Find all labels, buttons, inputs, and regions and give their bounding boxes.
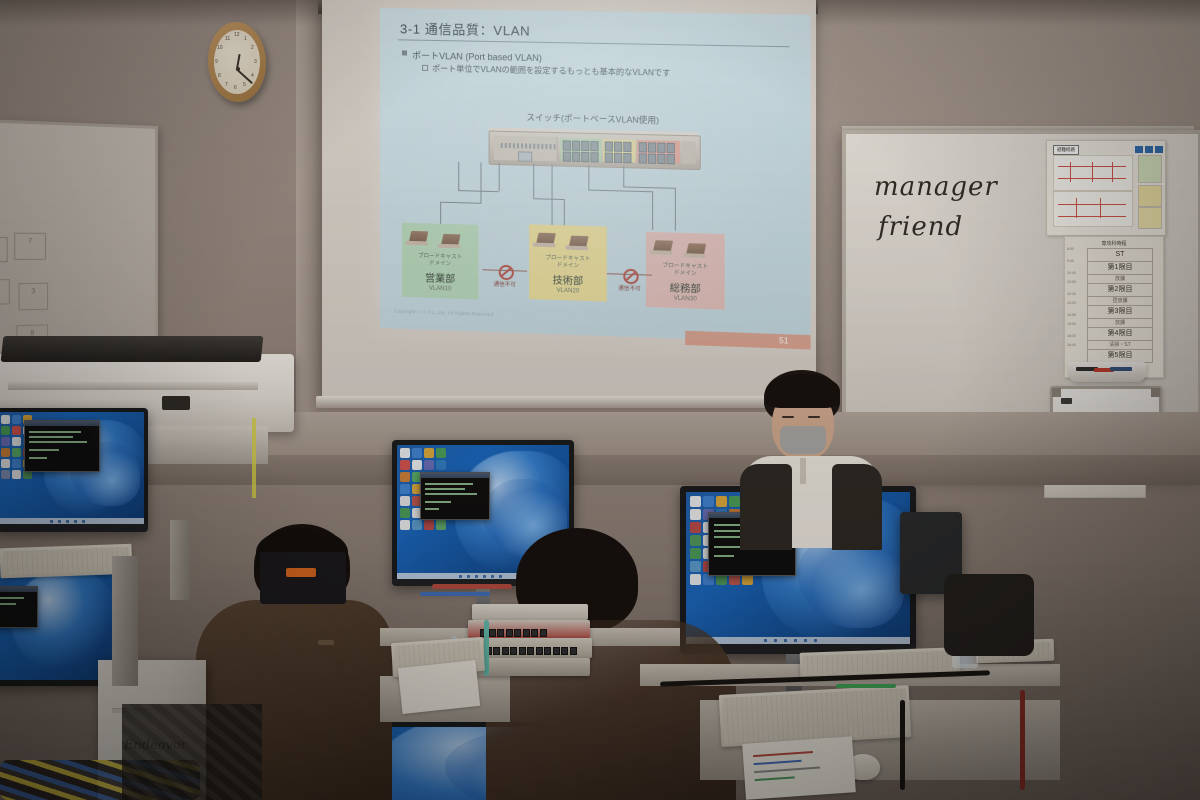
switch-port: [605, 152, 613, 162]
red-cable: [1020, 690, 1025, 790]
instructor-vest-right: [832, 464, 882, 550]
switch-port: [623, 153, 631, 163]
monitor-screen: [0, 412, 144, 524]
clock-numeral: 6: [234, 85, 237, 91]
slide-bullet-2: ポート単位でVLANの範囲を設定するもっとも基本的なVLANです: [432, 63, 670, 79]
terminal-titlebar[interactable]: [25, 421, 99, 426]
wb-left-note: 9: [0, 279, 10, 305]
barrier-label: 通信不可: [485, 279, 526, 288]
switch-console-port: [518, 151, 532, 161]
schedule-table: ST 第1限目 放課 第2限目 昼放課 第3限目 放課 第4限目 清掃・ST 第…: [1087, 248, 1153, 363]
schedule-title: 専攻科時程: [1065, 240, 1163, 247]
switch-port: [657, 154, 665, 164]
jacket-tab: [318, 640, 334, 645]
projected-slide: 3-1 通信品質：VLAN ポートVLAN (Port based VLAN) …: [380, 8, 811, 343]
switch-port: [563, 151, 571, 161]
green-cable: [836, 684, 896, 688]
windows-taskbar[interactable]: [686, 637, 910, 644]
switch-uplink-group: [681, 141, 696, 164]
poster-floor-map-upper: [1053, 155, 1133, 191]
barrier-1: 通信不可: [480, 263, 529, 265]
dept-broadcast-line2: ドメイン: [429, 260, 451, 267]
patch-cable-blue: [420, 592, 490, 596]
whiteboard-eraser: [1061, 398, 1072, 404]
dept-box-vlan10: ブロードキャスト ドメイン 営業部 VLAN10: [402, 223, 478, 300]
dept-box-vlan30: ブロードキャスト ドメイン 総務部 VLAN30: [646, 232, 725, 310]
terminal-window[interactable]: [420, 472, 490, 520]
switch-port-row: [476, 647, 577, 655]
dept-vlan-id: VLAN20: [529, 287, 607, 296]
handout-paper-center: [398, 660, 480, 714]
schedule-row: 第4限目: [1087, 327, 1153, 340]
link-line: [480, 163, 481, 203]
cable-tangle: [122, 704, 262, 800]
clock-numeral: 10: [217, 45, 223, 51]
marker-blue: [1110, 367, 1132, 371]
switch-left-panel: [494, 136, 558, 162]
wb-left-note: 3: [18, 283, 48, 311]
link-line: [440, 202, 481, 204]
terminal-window[interactable]: [0, 586, 38, 628]
instructor-collar: [800, 458, 806, 484]
classroom-photo: 3-1 通信品質：VLAN ポートVLAN (Port based VLAN) …: [0, 0, 1200, 800]
clock-numeral: 5: [243, 82, 246, 88]
link-line: [458, 162, 459, 190]
schedule-time: 16:40: [1067, 343, 1076, 347]
link-line: [458, 190, 498, 192]
printer-control-panel[interactable]: [162, 396, 190, 410]
handout-paper-right: [742, 736, 856, 800]
dept-broadcast-line1: ブロードキャスト: [662, 263, 708, 271]
link-line: [564, 199, 565, 227]
monitor-screen: [0, 560, 114, 680]
network-switch-top: [472, 604, 588, 620]
clock-center-pin: [236, 67, 240, 71]
poster-badge-2: [1145, 146, 1153, 153]
slide-copyright: Copyright ○○○ Co.,Ltd. All Rights Reserv…: [394, 308, 495, 317]
class-schedule-sheet: 専攻科時程 ST 第1限目 放課 第2限目 昼放課 第3限目 放課 第4限目 清…: [1064, 236, 1164, 378]
dept-box-vlan20: ブロードキャスト ドメイン 技術部 VLAN20: [529, 224, 607, 301]
switch-port-group-vlan10: [561, 138, 602, 161]
projection-screen-bottom-bar: [316, 396, 820, 408]
printer-paper-slot: [8, 382, 258, 390]
schedule-row: 放課: [1087, 318, 1153, 327]
switch-port: [590, 141, 598, 151]
instructor-fringe: [766, 374, 840, 408]
diagram-caption: スイッチ(ポートベースVLAN使用): [380, 108, 811, 130]
switch-port: [648, 142, 656, 152]
schedule-row: 放課: [1087, 274, 1153, 283]
schedule-row: ST: [1087, 248, 1153, 261]
link-line: [588, 165, 589, 189]
wb-left-note: 2: [0, 237, 8, 263]
crate-handle: [286, 568, 316, 577]
dept-broadcast-line2: ドメイン: [674, 270, 697, 277]
poster-title: 避難経路: [1053, 145, 1079, 155]
schedule-time: 10:50: [1067, 280, 1076, 284]
link-line: [623, 166, 624, 186]
schedule-time: 16:30: [1067, 334, 1076, 338]
instructor-eye-left: [782, 416, 794, 418]
clock-numeral: 1: [244, 36, 247, 42]
switch-port: [639, 142, 647, 152]
dept-name: 営業部: [402, 268, 478, 286]
evacuation-route-poster: 避難経路: [1046, 140, 1166, 236]
schedule-time: 9:00: [1067, 259, 1074, 263]
switch-port: [657, 143, 665, 153]
patch-cable-red: [432, 584, 512, 589]
bullet-square-icon: [402, 50, 407, 55]
clock-face: 12 1 2 3 4 5 6 7 8 9 10 11: [214, 30, 260, 94]
link-line: [588, 190, 652, 193]
schedule-row: 第5限目: [1087, 349, 1153, 363]
switch-port: [623, 142, 631, 152]
schedule-row: 第3限目: [1087, 305, 1153, 318]
dept-vlan-id: VLAN30: [646, 295, 725, 304]
monitor-chin: [0, 524, 148, 532]
schedule-row: 第1限目: [1087, 261, 1153, 274]
schedule-time: 13:20: [1067, 301, 1076, 305]
no-communication-icon: [623, 269, 638, 285]
clock-numeral: 8: [218, 73, 221, 79]
dept-name: 技術部: [529, 270, 607, 288]
poster-notice-yellow-2: [1138, 207, 1162, 229]
poster-notice-yellow: [1138, 185, 1162, 207]
switch-port: [605, 141, 613, 151]
link-line: [652, 191, 653, 230]
clock-numeral: 3: [254, 59, 257, 65]
switch-port: [590, 152, 598, 162]
clock-numeral: 11: [225, 36, 230, 42]
instructor-eye-right: [808, 416, 820, 418]
dept-name: 総務部: [646, 278, 725, 296]
switch-port: [667, 143, 675, 153]
slide-bullet-1: ポートVLAN (Port based VLAN): [412, 49, 542, 64]
rack-post: [112, 556, 138, 686]
poster-badge-1: [1135, 146, 1143, 153]
whiteboard-corner: [1052, 388, 1061, 397]
face-mask: [780, 426, 826, 454]
schedule-time: 14:50: [1067, 313, 1076, 317]
schedule-time: 10:40: [1067, 271, 1076, 275]
schedule-time: 8:50: [1067, 247, 1074, 251]
link-line: [623, 186, 675, 188]
office-chair: [944, 574, 1034, 656]
clock-numeral: 7: [225, 82, 228, 88]
terminal-titlebar[interactable]: [0, 587, 37, 592]
handwriting-manager: manager: [874, 172, 998, 202]
bullet-hollow-square-icon: [422, 65, 428, 71]
wall-clock: 12 1 2 3 4 5 6 7 8 9 10 11: [208, 22, 270, 104]
instructor-vest-left: [740, 464, 792, 550]
clock-numeral: 9: [215, 59, 218, 65]
schedule-row: 清掃・ST: [1087, 340, 1153, 349]
poster-floor-map-lower: [1053, 191, 1133, 227]
link-line: [440, 202, 441, 224]
network-switch-graphic: [489, 131, 701, 171]
link-line: [499, 163, 500, 191]
schedule-time: 12:30: [1067, 292, 1076, 296]
marker-tray: [1068, 362, 1146, 382]
keyboard-right-front[interactable]: [719, 685, 911, 747]
switch-port: [614, 153, 622, 163]
switch-port: [572, 152, 580, 162]
schedule-row: 昼放課: [1087, 296, 1153, 305]
switch-port-group-vlan20: [603, 139, 636, 162]
printer-lid[interactable]: [1, 336, 264, 362]
whiteboard-corner: [1151, 388, 1160, 397]
poster-notice-green: [1138, 155, 1162, 183]
dept-broadcast-line1: ブロードキャスト: [545, 255, 590, 262]
handwriting-friend: friend: [878, 212, 963, 242]
slide-page-number: 51: [779, 336, 788, 346]
link-line: [552, 164, 553, 227]
no-communication-icon: [499, 265, 514, 281]
switch-led-row: [501, 143, 556, 149]
switch-port: [614, 142, 622, 152]
clock-numeral: 2: [251, 45, 254, 51]
link-line: [533, 198, 564, 200]
power-cable-vertical: [900, 700, 905, 790]
clock-numeral: 12: [234, 32, 240, 38]
switch-port: [639, 153, 647, 163]
barrier-label: 通信不可: [609, 283, 650, 292]
monitor-arm: [170, 520, 190, 600]
whiteboard-left: 2 7 9 3 8: [0, 119, 158, 357]
schedule-time: 15:00: [1067, 322, 1076, 326]
switch-port: [648, 154, 656, 164]
switch-port: [581, 152, 589, 162]
switch-port: [667, 154, 675, 164]
dept-broadcast-line1: ブロードキャスト: [418, 253, 462, 260]
link-line: [675, 188, 676, 231]
dept-vlan-id: VLAN10: [402, 284, 478, 293]
dept-broadcast-line2: ドメイン: [557, 262, 579, 269]
clock-numeral: 4: [251, 73, 254, 79]
equipment-crate: [260, 552, 346, 604]
terminal-window[interactable]: [24, 420, 100, 472]
switch-port-row: [480, 629, 547, 637]
switch-port: [581, 141, 589, 151]
switch-port: [563, 140, 571, 150]
switch-port-group-vlan30: [637, 140, 680, 163]
link-line: [533, 164, 534, 198]
yellow-network-cable: [252, 418, 256, 498]
switch-port: [572, 141, 580, 151]
schedule-row: 第2限目: [1087, 283, 1153, 296]
terminal-titlebar[interactable]: [421, 473, 489, 478]
poster-badge-3: [1155, 146, 1163, 153]
wb-left-note: 7: [14, 233, 46, 260]
